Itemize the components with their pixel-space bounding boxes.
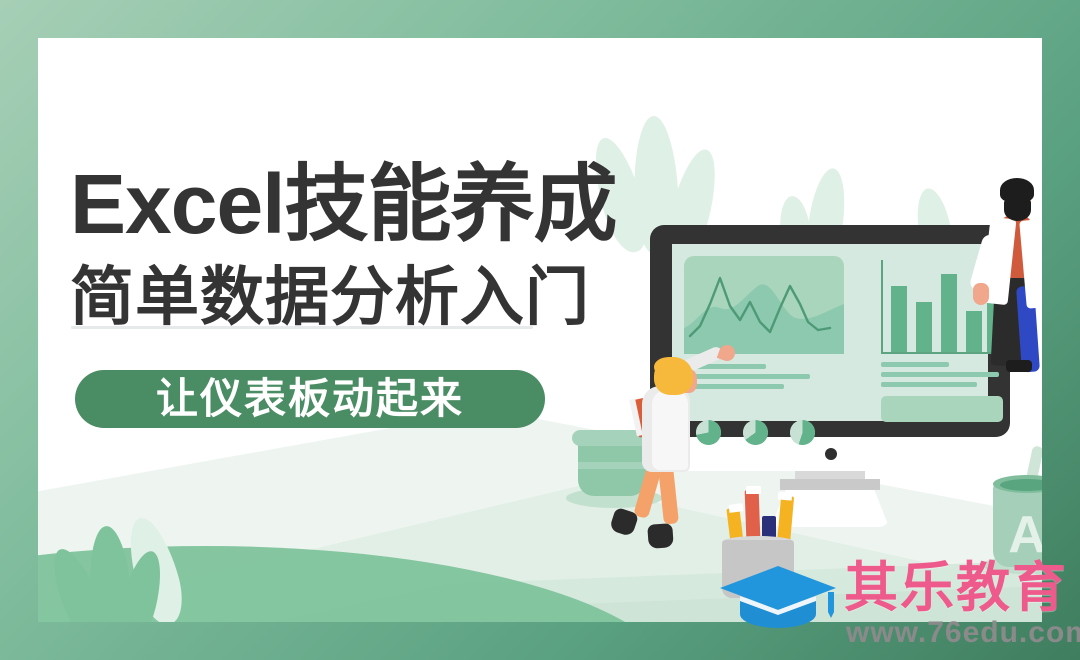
pie-chart-3 bbox=[790, 420, 815, 445]
page-subtitle: 简单数据分析入门 bbox=[70, 265, 590, 329]
pie-slice bbox=[790, 420, 815, 445]
monitor-stand-top bbox=[780, 479, 880, 490]
bar-chart-x-axis bbox=[881, 352, 1003, 354]
graduation-cap-icon bbox=[716, 564, 840, 630]
title-divider bbox=[71, 326, 533, 329]
plant-pot-stripe bbox=[578, 462, 646, 469]
dashboard-placeholder-block bbox=[881, 396, 1003, 422]
brand-name: 其乐教育 bbox=[844, 558, 1068, 618]
pie-slice bbox=[696, 420, 721, 445]
pencil-cap bbox=[729, 503, 744, 513]
monitor-neck bbox=[795, 471, 865, 479]
bar-2 bbox=[916, 302, 932, 352]
man-shoe bbox=[1006, 360, 1032, 372]
highlight-badge-label: 让仪表板动起来 bbox=[156, 378, 464, 420]
pencil-cap bbox=[778, 491, 793, 500]
text-line bbox=[881, 372, 999, 377]
highlight-badge[interactable]: 让仪表板动起来 bbox=[75, 370, 545, 428]
bar-chart-y-axis bbox=[881, 260, 883, 354]
page-title: Excel技能养成 bbox=[70, 162, 617, 246]
brand-url: www.76edu.com bbox=[846, 616, 1080, 650]
bar-1 bbox=[891, 286, 907, 352]
man-hair bbox=[1000, 178, 1034, 202]
monitor-power-dot bbox=[825, 448, 837, 460]
banner-card: Excel技能养成 简单数据分析入门 让仪表板动起来 bbox=[38, 38, 1042, 622]
pie-chart-1 bbox=[696, 420, 721, 445]
pencil-cap bbox=[746, 486, 761, 494]
pie-chart-2 bbox=[743, 420, 768, 445]
woman-hair-front bbox=[654, 357, 687, 379]
text-line bbox=[881, 362, 949, 367]
bar-3 bbox=[941, 274, 957, 352]
bar-4 bbox=[966, 311, 982, 352]
man-beard bbox=[1004, 199, 1031, 221]
man-hand-pointer bbox=[973, 283, 989, 305]
woman-coat-highlight bbox=[652, 390, 688, 470]
course-banner: Excel技能养成 简单数据分析入门 让仪表板动起来 bbox=[0, 0, 1080, 660]
pie-slice bbox=[743, 420, 768, 445]
woman-boot-right bbox=[647, 523, 674, 549]
text-line bbox=[881, 382, 977, 387]
text-line bbox=[684, 374, 810, 379]
text-line bbox=[684, 384, 784, 389]
brand-logo[interactable]: 其乐教育 www.76edu.com bbox=[716, 558, 1076, 654]
area-chart bbox=[684, 256, 844, 354]
mug-letter: A bbox=[993, 508, 1042, 562]
